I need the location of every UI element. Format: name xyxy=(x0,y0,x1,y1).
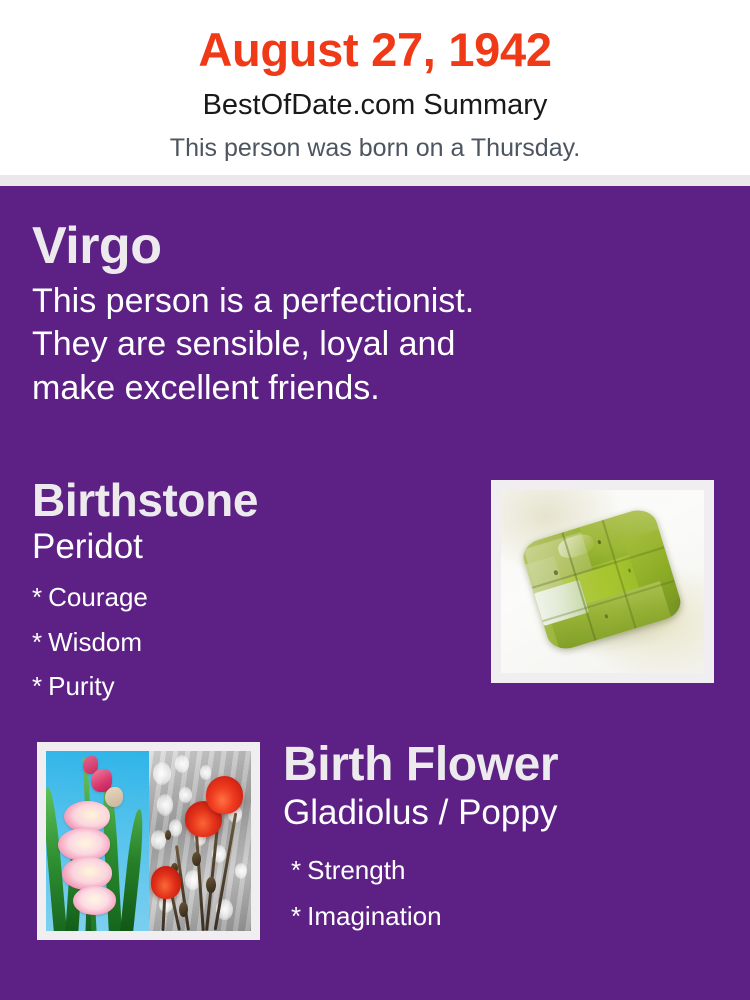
bullet-star-icon: * xyxy=(32,620,48,665)
gladiolus-bloom xyxy=(62,857,111,889)
birthstone-image-frame xyxy=(491,480,714,683)
poppy-bud xyxy=(206,877,216,893)
zodiac-description-line-3: make excellent friends. xyxy=(32,367,632,410)
bestofdate-summary-poster: August 27, 1942 BestOfDate.com Summary T… xyxy=(0,0,750,1000)
bokeh-light xyxy=(235,863,247,879)
birthstone-trait-label: Purity xyxy=(48,671,114,701)
birth-flower-title: Birth Flower xyxy=(283,740,723,790)
birthstone-trait: *Wisdom xyxy=(32,620,462,665)
birthstone-name: Peridot xyxy=(32,524,462,567)
site-summary-subtitle: BestOfDate.com Summary xyxy=(0,73,750,120)
zodiac-description: This person is a perfectionist. They are… xyxy=(32,274,632,410)
poppy-bloom xyxy=(206,776,243,814)
birthstone-trait-label: Wisdom xyxy=(48,627,142,657)
bokeh-light xyxy=(151,830,166,850)
poppy-photo-panel xyxy=(149,751,252,931)
poppy-bud xyxy=(192,852,201,866)
birthstone-title: Birthstone xyxy=(32,476,462,524)
birth-flower-trait: *Strength xyxy=(291,847,723,893)
peridot-gemstone-photo xyxy=(501,490,704,673)
bokeh-light xyxy=(200,765,211,779)
birthstone-trait: *Purity xyxy=(32,664,462,709)
birthstone-section: Birthstone Peridot *Courage *Wisdom *Pur… xyxy=(32,476,462,709)
birthstone-trait-label: Courage xyxy=(48,582,148,612)
bullet-star-icon: * xyxy=(291,893,307,939)
bokeh-light xyxy=(175,755,189,773)
summary-panel: Virgo This person is a perfectionist. Th… xyxy=(0,186,750,1000)
birthstone-trait: *Courage xyxy=(32,575,462,620)
bullet-star-icon: * xyxy=(32,575,48,620)
leaf-shape xyxy=(46,787,68,931)
gladiolus-bloom xyxy=(64,801,109,832)
gladiolus-bloom xyxy=(73,886,116,915)
birth-flower-trait-list: *Strength *Imagination xyxy=(283,833,723,940)
birth-day-note: This person was born on a Thursday. xyxy=(0,120,750,161)
poppy-bud xyxy=(165,830,171,840)
birth-flower-name: Gladiolus / Poppy xyxy=(283,790,723,833)
zodiac-section: Virgo This person is a perfectionist. Th… xyxy=(32,218,672,410)
zodiac-description-line-1: This person is a perfectionist. xyxy=(32,280,632,323)
header: August 27, 1942 BestOfDate.com Summary T… xyxy=(0,0,750,175)
gladiolus-bud xyxy=(105,787,122,807)
leaf-shape xyxy=(119,808,146,931)
gladiolus-bloom xyxy=(58,828,109,860)
birth-flower-section: Birth Flower Gladiolus / Poppy *Strength… xyxy=(283,740,723,939)
birth-flower-trait-label: Strength xyxy=(307,855,405,885)
birth-flower-trait-label: Imagination xyxy=(307,901,441,931)
header-divider xyxy=(0,175,750,186)
poppy-bloom xyxy=(151,866,182,898)
bokeh-light xyxy=(153,762,171,785)
zodiac-description-line-2: They are sensible, loyal and xyxy=(32,323,632,366)
bullet-star-icon: * xyxy=(291,847,307,893)
birthstone-trait-list: *Courage *Wisdom *Purity xyxy=(32,567,462,709)
gladiolus-photo-panel xyxy=(46,751,149,931)
birth-flower-photo xyxy=(46,751,251,931)
bokeh-light xyxy=(157,794,173,816)
page-title-date: August 27, 1942 xyxy=(0,0,750,73)
birth-flower-image-frame xyxy=(37,742,260,940)
bokeh-light xyxy=(179,787,191,803)
bullet-star-icon: * xyxy=(32,664,48,709)
birth-flower-trait: *Imagination xyxy=(291,893,723,939)
zodiac-sign-name: Virgo xyxy=(32,218,672,274)
